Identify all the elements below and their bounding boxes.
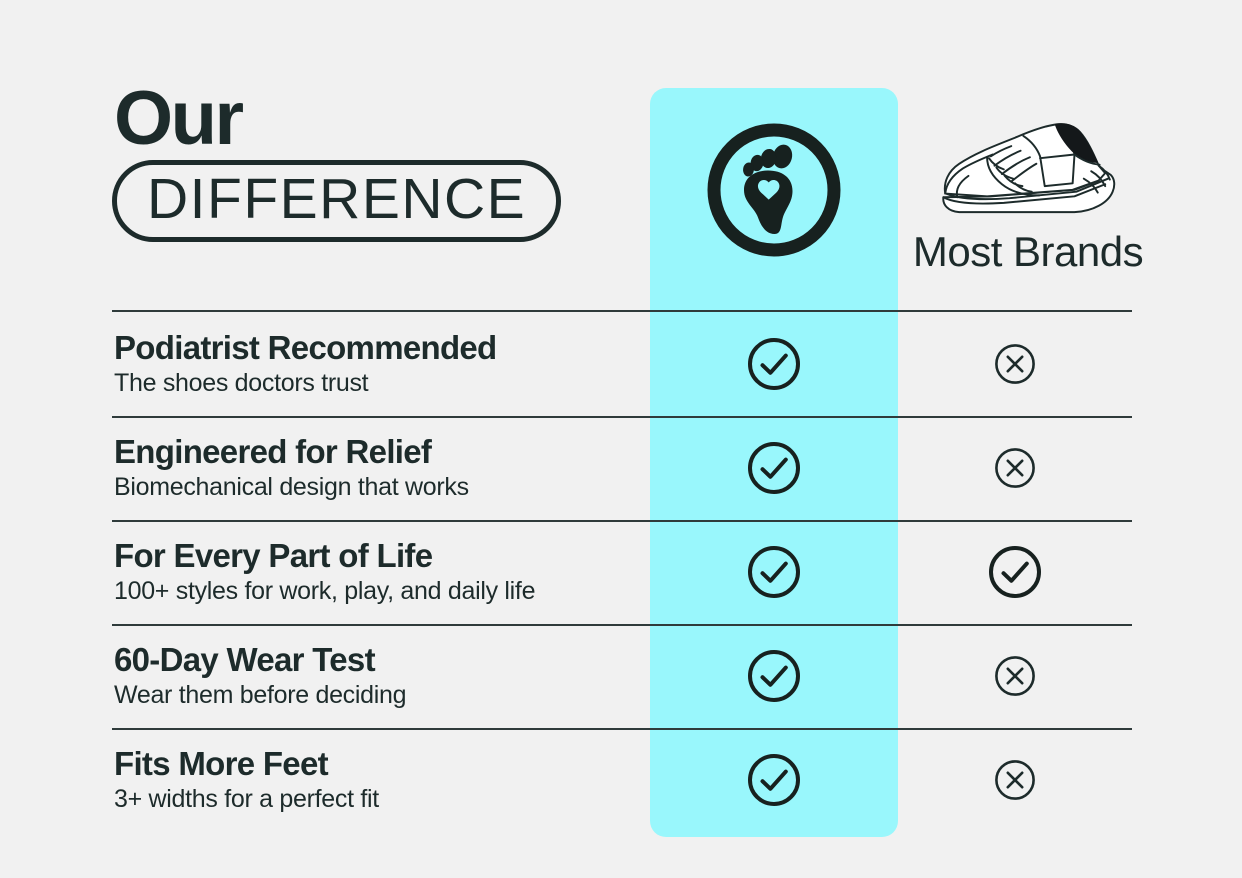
- feature-cell: Engineered for ReliefBiomechanical desig…: [112, 434, 650, 502]
- feature-title: Fits More Feet: [114, 746, 650, 783]
- check-circle-icon: [745, 439, 803, 497]
- feature-cell: 60-Day Wear TestWear them before decidin…: [112, 642, 650, 710]
- competitor-label: Most Brands: [913, 228, 1143, 276]
- table-row: For Every Part of Life100+ styles for wo…: [112, 520, 1132, 624]
- competitor-header: Most Brands: [898, 96, 1158, 306]
- most-brands-cell: [898, 757, 1132, 803]
- feature-cell: For Every Part of Life100+ styles for wo…: [112, 538, 650, 606]
- our-brand-cell: [650, 439, 898, 497]
- feature-cell: Fits More Feet3+ widths for a perfect fi…: [112, 746, 650, 814]
- our-brand-cell: [650, 751, 898, 809]
- table-header: Our DIFFERENCE: [0, 0, 1242, 310]
- table-row: Fits More Feet3+ widths for a perfect fi…: [112, 728, 1132, 832]
- title-line-difference: DIFFERENCE: [147, 167, 526, 231]
- sneaker-icon: [935, 98, 1121, 224]
- feature-title: 60-Day Wear Test: [114, 642, 650, 679]
- cross-circle-icon: [992, 757, 1038, 803]
- feature-title: For Every Part of Life: [114, 538, 650, 575]
- cross-circle-icon: [992, 445, 1038, 491]
- feature-subtitle: Wear them before deciding: [114, 681, 650, 710]
- check-circle-icon: [986, 543, 1044, 601]
- table-row: Podiatrist RecommendedThe shoes doctors …: [112, 312, 1132, 416]
- table-row: 60-Day Wear TestWear them before decidin…: [112, 624, 1132, 728]
- table-row: Engineered for ReliefBiomechanical desig…: [112, 416, 1132, 520]
- feature-title: Podiatrist Recommended: [114, 330, 650, 367]
- feature-subtitle: The shoes doctors trust: [114, 369, 650, 398]
- check-circle-icon: [745, 751, 803, 809]
- check-circle-icon: [745, 647, 803, 705]
- brand-logo: [650, 110, 898, 270]
- feature-subtitle: Biomechanical design that works: [114, 473, 650, 502]
- cross-circle-icon: [992, 341, 1038, 387]
- feature-subtitle: 100+ styles for work, play, and daily li…: [114, 577, 650, 606]
- most-brands-cell: [898, 543, 1132, 601]
- title-pill: DIFFERENCE: [112, 160, 561, 242]
- feature-subtitle: 3+ widths for a perfect fit: [114, 785, 650, 814]
- most-brands-cell: [898, 341, 1132, 387]
- most-brands-cell: [898, 445, 1132, 491]
- feature-title: Engineered for Relief: [114, 434, 650, 471]
- check-circle-icon: [745, 543, 803, 601]
- our-brand-cell: [650, 543, 898, 601]
- cross-circle-icon: [992, 653, 1038, 699]
- comparison-table-graphic: Our DIFFERENCE: [0, 0, 1242, 878]
- feature-cell: Podiatrist RecommendedThe shoes doctors …: [112, 330, 650, 398]
- check-circle-icon: [745, 335, 803, 393]
- our-brand-cell: [650, 335, 898, 393]
- title-line-our: Our: [114, 84, 561, 154]
- our-brand-cell: [650, 647, 898, 705]
- page-title: Our DIFFERENCE: [112, 84, 561, 242]
- most-brands-cell: [898, 653, 1132, 699]
- foot-heart-circle-icon: [700, 116, 848, 264]
